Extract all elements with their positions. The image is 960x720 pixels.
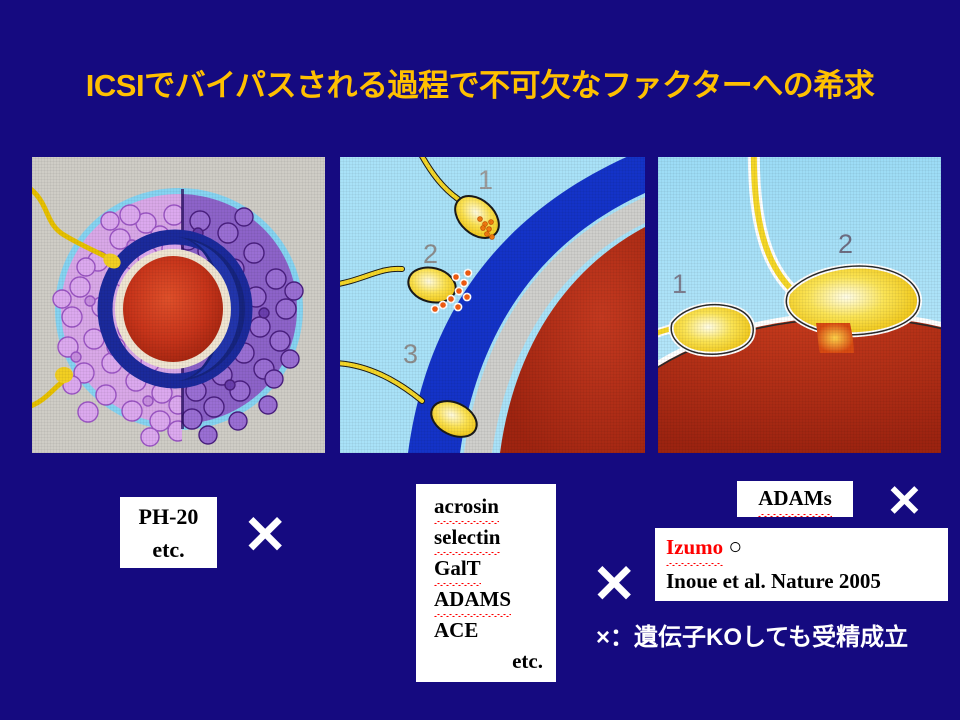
acrosin-etc: etc. xyxy=(434,646,556,677)
ph20-label: PH-20 xyxy=(120,500,217,533)
izumo-citation: Inoue et al. Nature 2005 xyxy=(666,564,948,598)
zona-penetration-illustration: 1 2 3 xyxy=(340,157,645,453)
x-mark-icon-adams: ✕ xyxy=(886,480,923,524)
figure-cumulus-oocyte-complex xyxy=(32,157,325,453)
fig-label-fusion-2: 2 xyxy=(838,229,853,259)
fig-label-zona-3: 3 xyxy=(403,339,418,369)
fig-label-zona-2: 2 xyxy=(423,239,438,269)
ace-label: ACE xyxy=(434,618,478,642)
figure-zona-penetration: 1 2 3 xyxy=(340,157,645,453)
list-item: GalT xyxy=(434,553,556,584)
legend-text: ×：遺伝子KOしても受精成立 xyxy=(596,617,908,652)
circle-mark-icon: ○ xyxy=(728,534,742,559)
x-mark-icon-cumulus: ✕ xyxy=(243,509,287,562)
oolemma-fusion-illustration: 1 2 xyxy=(658,157,941,453)
adams-box-label: ADAMs xyxy=(758,481,832,515)
acrosin-label: acrosin xyxy=(434,491,499,522)
ph20-etc: etc. xyxy=(120,533,217,566)
slide: ICSIでバイパスされる過程で不可欠なファクターへの希求 xyxy=(0,0,960,720)
galt-label: GalT xyxy=(434,553,481,584)
list-item: acrosin xyxy=(434,491,556,522)
izumo-row: Izumo ○ xyxy=(666,530,948,564)
list-item: ADAMS xyxy=(434,584,556,615)
box-adams: ADAMs xyxy=(737,481,853,517)
page-title: ICSIでバイパスされる過程で不可欠なファクターへの希求 xyxy=(0,60,960,105)
selectin-label: selectin xyxy=(434,522,500,553)
fig-label-zona-1: 1 xyxy=(478,165,493,195)
list-item: ACE xyxy=(434,615,556,646)
box-ph20: PH-20 etc. xyxy=(120,497,217,568)
box-izumo-citation: Izumo ○ Inoue et al. Nature 2005 xyxy=(655,528,948,601)
list-item: selectin xyxy=(434,522,556,553)
fig-label-fusion-1: 1 xyxy=(672,269,687,299)
cumulus-oocyte-illustration xyxy=(32,157,325,453)
figure-oolemma-fusion: 1 2 xyxy=(658,157,941,453)
box-acrosin-factor-list: acrosin selectin GalT ADAMS ACE etc. xyxy=(416,484,556,682)
izumo-label: Izumo xyxy=(666,530,723,564)
adams-label: ADAMS xyxy=(434,584,511,615)
x-mark-icon-zona: ✕ xyxy=(592,558,636,611)
